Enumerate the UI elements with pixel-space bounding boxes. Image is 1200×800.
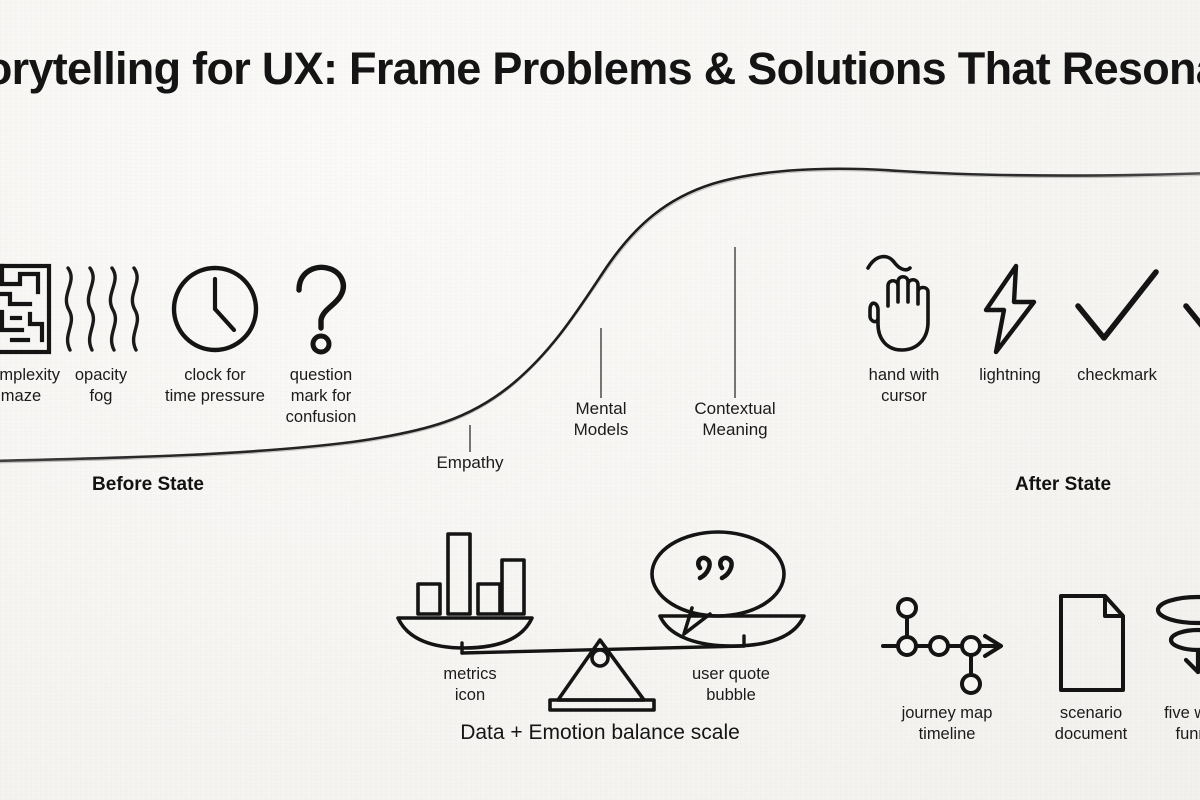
tool-icon-journey-map: journey map timeline [881, 592, 1013, 745]
tool-icon-scenario-document: scenario document [1045, 592, 1137, 745]
tool-icon-scenario-document-caption: scenario document [1055, 703, 1127, 745]
before-icon-maze-caption: complexity maze [0, 365, 60, 407]
after-icon-lightning: lightning [972, 262, 1048, 386]
journey-map-timeline-icon [881, 592, 1013, 694]
tool-icon-five-whys-funnel: five whys funnel [1152, 592, 1200, 745]
page-title: Storytelling for UX: Frame Problems & So… [0, 44, 1200, 94]
after-state-label: After State [1015, 474, 1111, 496]
before-icon-fog: opacity fog [56, 262, 146, 407]
after-icon-checkmark-caption: checkmark [1077, 365, 1157, 386]
before-icon-clock-caption: clock for time pressure [165, 365, 265, 407]
before-icon-maze: complexity maze [0, 262, 60, 407]
tool-icon-five-whys-funnel-caption: five whys funnel [1164, 703, 1200, 745]
five-whys-funnel-icon [1152, 592, 1200, 694]
question-mark-icon [283, 262, 359, 356]
after-icon-checkmark-cropped [1178, 266, 1200, 365]
balance-right-label: user quote bubble [692, 664, 770, 706]
hand-with-cursor-icon [858, 252, 950, 356]
checkmark-icon [1070, 266, 1164, 356]
balance-section-caption: Data + Emotion balance scale [460, 721, 740, 745]
balance-left-label: metrics icon [443, 664, 496, 706]
speech-bubble-quote-icon [652, 532, 784, 634]
before-icon-question-mark: question mark for confusion [283, 262, 359, 428]
slide-canvas: Storytelling for UX: Frame Problems & So… [0, 0, 1200, 800]
after-icon-checkmark: checkmark [1070, 266, 1164, 386]
maze-icon [0, 262, 52, 356]
fog-waves-icon [56, 262, 146, 356]
after-icon-lightning-caption: lightning [979, 365, 1040, 386]
before-icon-question-mark-caption: question mark for confusion [286, 365, 357, 428]
stage-label-mental-models: Mental Models [574, 398, 629, 441]
after-icon-hand-caption: hand with cursor [869, 365, 940, 407]
before-icon-fog-caption: opacity fog [75, 365, 127, 407]
stage-label-contextual-meaning: Contextual Meaning [694, 398, 775, 441]
bar-chart-icon [418, 534, 524, 614]
scenario-document-icon [1045, 592, 1137, 694]
stage-label-empathy: Empathy [436, 452, 503, 473]
after-icon-hand-with-cursor: hand with cursor [858, 252, 950, 407]
before-state-label: Before State [92, 474, 204, 496]
tool-icon-journey-map-caption: journey map timeline [902, 703, 993, 745]
checkmark-icon [1178, 266, 1200, 356]
clock-icon [168, 262, 262, 356]
before-icon-clock: clock for time pressure [165, 262, 265, 407]
lightning-icon [972, 262, 1048, 356]
